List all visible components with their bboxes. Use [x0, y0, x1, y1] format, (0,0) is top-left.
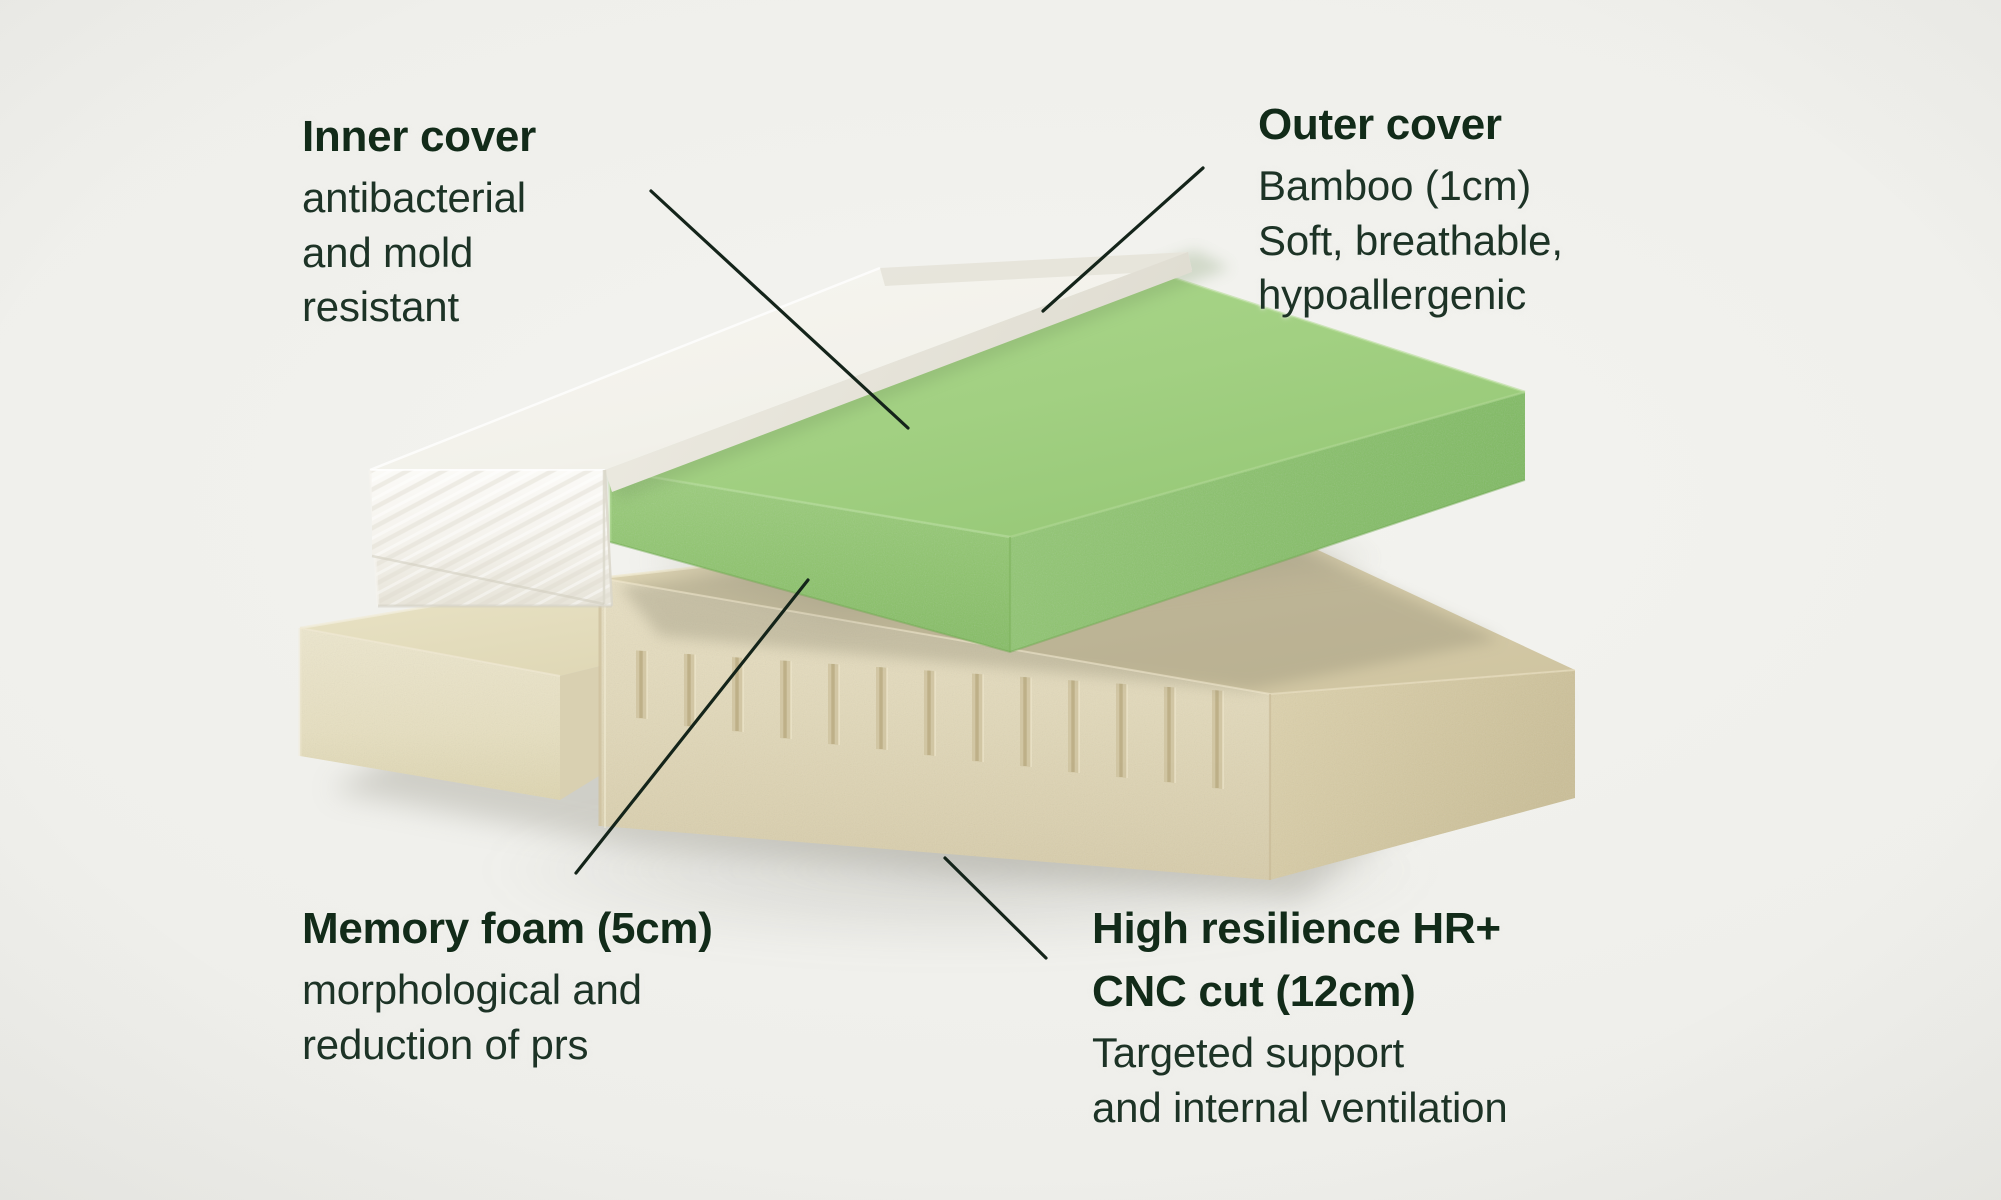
callout-memory-foam-title: Memory foam (5cm) [302, 900, 713, 957]
callout-high-resilience-title-line-1: High resilience HR+ [1092, 900, 1508, 957]
callout-inner-cover-title: Inner cover [302, 108, 536, 165]
callout-high-resilience-title-line-2: CNC cut (12cm) [1092, 963, 1508, 1020]
callout-memory-foam: Memory foam (5cm) morphological and redu… [302, 900, 713, 1072]
callout-high-resilience-line-2: and internal ventilation [1092, 1081, 1508, 1136]
callout-memory-foam-line-1: morphological and [302, 963, 713, 1018]
callout-memory-foam-line-2: reduction of prs [302, 1018, 713, 1073]
mattress-stack-artwork [0, 0, 2001, 1200]
callout-outer-cover: Outer cover Bamboo (1cm) Soft, breathabl… [1258, 96, 1563, 323]
callout-inner-cover-line-3: resistant [302, 280, 536, 335]
callout-outer-cover-title: Outer cover [1258, 96, 1563, 153]
callout-inner-cover-line-1: antibacterial [302, 171, 536, 226]
callout-outer-cover-line-2: Soft, breathable, [1258, 214, 1563, 269]
callout-outer-cover-line-3: hypoallergenic [1258, 268, 1563, 323]
callout-inner-cover-line-2: and mold [302, 226, 536, 281]
callout-inner-cover: Inner cover antibacterial and mold resis… [302, 108, 536, 335]
mattress-layers-illustration: Inner cover antibacterial and mold resis… [0, 0, 2001, 1200]
callout-outer-cover-line-1: Bamboo (1cm) [1258, 159, 1563, 214]
callout-high-resilience: High resilience HR+ CNC cut (12cm) Targe… [1092, 900, 1508, 1136]
callout-high-resilience-line-1: Targeted support [1092, 1026, 1508, 1081]
